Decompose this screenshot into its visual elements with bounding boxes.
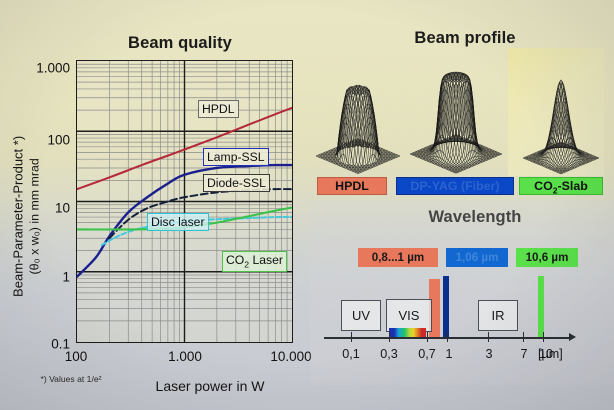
y-axis-title: Beam-Parameter-Product *) (θ₀ x w₀) in m… [11, 101, 44, 331]
wavelength-tick-0.3 [389, 332, 390, 342]
co2-slab-post: -Slab [558, 179, 588, 193]
co2-slab-pre: CO [534, 179, 553, 193]
y-axis-title-line2: (θ₀ x w₀) in mm mrad [28, 158, 42, 274]
wavelength-num-0.1: 0,1 [336, 347, 366, 361]
beam-quality-plot-area [76, 60, 293, 343]
chart-footnote: *) Values at 1/e² [6, 374, 136, 384]
visible-spectrum-strip [389, 328, 426, 337]
wavelength-num-0.3: 0,3 [374, 347, 404, 361]
wavelength-num-3: 3 [474, 347, 504, 361]
curve-label-diode-ssl: Diode-SSL [203, 174, 270, 192]
beam-quality-panel: Beam quality 1.000 100 10 1 0.1 Beam-Par… [0, 0, 310, 410]
wavelength-marker-yag [443, 276, 449, 338]
wavelength-tick-10 [543, 332, 544, 342]
curve-label-hpdl: HPDL [198, 100, 239, 118]
dp-yag-3d-surface [404, 46, 508, 176]
wavelength-tick-1 [447, 332, 448, 342]
y-axis-title-line1: Beam-Parameter-Product *) [11, 136, 26, 297]
curve-label-lamp-ssl: Lamp-SSL [203, 148, 269, 166]
wavelength-badge-hpdl: 0,8...1 µm [358, 248, 438, 267]
wavelength-unit-label: [µm] [538, 347, 563, 361]
beam-quality-title: Beam quality [100, 34, 260, 53]
curves-layer [77, 61, 292, 342]
x-tick-100: 100 [41, 349, 111, 364]
curve-label-co2-laser: CO2 Laser [222, 251, 287, 272]
wavelength-tick-0.7 [427, 332, 428, 342]
hpdl-3d-surface [312, 52, 404, 176]
wavelength-axis-arrow [569, 333, 576, 341]
y-tick-1000: 1.000 [8, 61, 70, 76]
badge-dp-yag-fiber: DP-YAG (Fiber) [396, 177, 514, 195]
x-tick-1000: 1.000 [150, 349, 220, 364]
wavelength-panel: 0,8...1 µm 1,06 µm 10,6 µm UV VIS IR 0,1… [310, 200, 614, 410]
band-box-uv: UV [341, 300, 381, 331]
co2-slab-3d-surface-mesh [518, 52, 604, 176]
wavelength-marker-co2 [538, 276, 544, 338]
wavelength-badge-co2: 10,6 µm [516, 248, 578, 267]
co2-label-post: Laser [249, 253, 283, 267]
wavelength-badge-yag: 1,06 µm [446, 248, 508, 267]
band-box-ir: IR [478, 300, 518, 331]
badge-hpdl: HPDL [317, 177, 387, 195]
wavelength-tick-0.1 [351, 332, 352, 342]
slide-root: Beam quality 1.000 100 10 1 0.1 Beam-Par… [0, 0, 614, 410]
curve-label-disc-laser: Disc laser [147, 213, 209, 231]
x-axis-title: Laser power in W [120, 378, 300, 394]
wavelength-num-1: 1 [434, 347, 464, 361]
wavelength-tick-3 [488, 332, 489, 342]
co2-label-pre: CO [226, 253, 244, 267]
wavelength-tick-7 [523, 332, 524, 342]
badge-co2-slab: CO2-Slab [519, 177, 603, 195]
